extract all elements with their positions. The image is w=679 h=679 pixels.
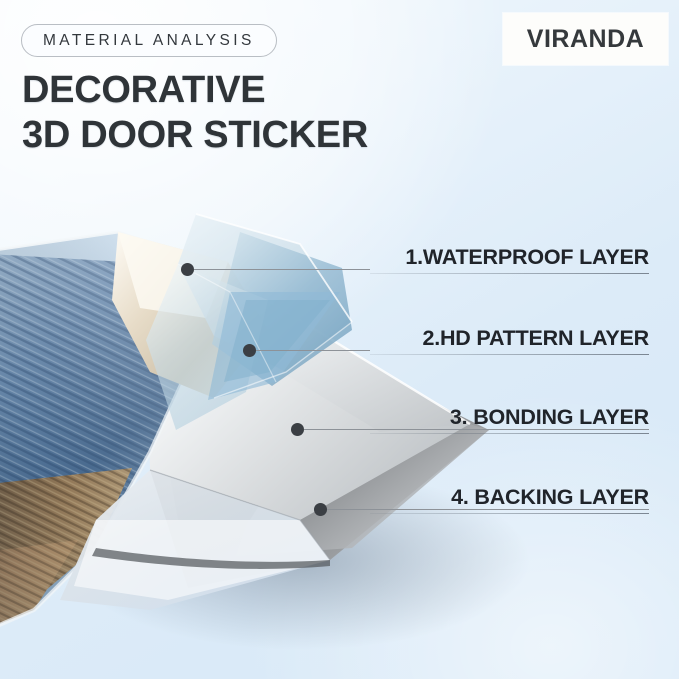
leader-dot-hd-pattern [243, 344, 256, 357]
callout-waterproof: 1.WATERPROOF LAYER [370, 240, 649, 274]
leader-line-hd-pattern [256, 350, 370, 351]
callout-label-hd-pattern: 2.HD PATTERN LAYER [422, 326, 649, 351]
material-analysis-badge: MATERIAL ANALYSIS [21, 24, 277, 57]
callout-rule-bonding [370, 433, 649, 434]
callout-rule-waterproof [370, 273, 649, 274]
leader-line-waterproof [194, 269, 370, 270]
callout-rule-backing [370, 513, 649, 514]
callout-bonding: 3. BONDING LAYER [370, 400, 649, 434]
callout-label-bonding: 3. BONDING LAYER [450, 405, 649, 430]
callout-label-backing: 4. BACKING LAYER [451, 485, 649, 510]
brand-logo: VIRANDA [503, 13, 668, 65]
badge-label: MATERIAL ANALYSIS [43, 32, 255, 50]
infographic-poster: MATERIAL ANALYSIS DECORATIVE 3D DOOR STI… [0, 0, 679, 679]
callout-rule-hd-pattern [370, 354, 649, 355]
callout-backing: 4. BACKING LAYER [370, 480, 649, 514]
brand-logo-text: VIRANDA [527, 25, 644, 54]
leader-dot-backing [314, 503, 327, 516]
page-title: DECORATIVE 3D DOOR STICKER [22, 68, 368, 158]
page-title-line-1: DECORATIVE [22, 68, 368, 113]
page-title-line-2: 3D DOOR STICKER [22, 113, 368, 158]
callout-label-waterproof: 1.WATERPROOF LAYER [405, 245, 649, 270]
leader-dot-waterproof [181, 263, 194, 276]
leader-dot-bonding [291, 423, 304, 436]
callout-hd-pattern: 2.HD PATTERN LAYER [370, 321, 649, 355]
